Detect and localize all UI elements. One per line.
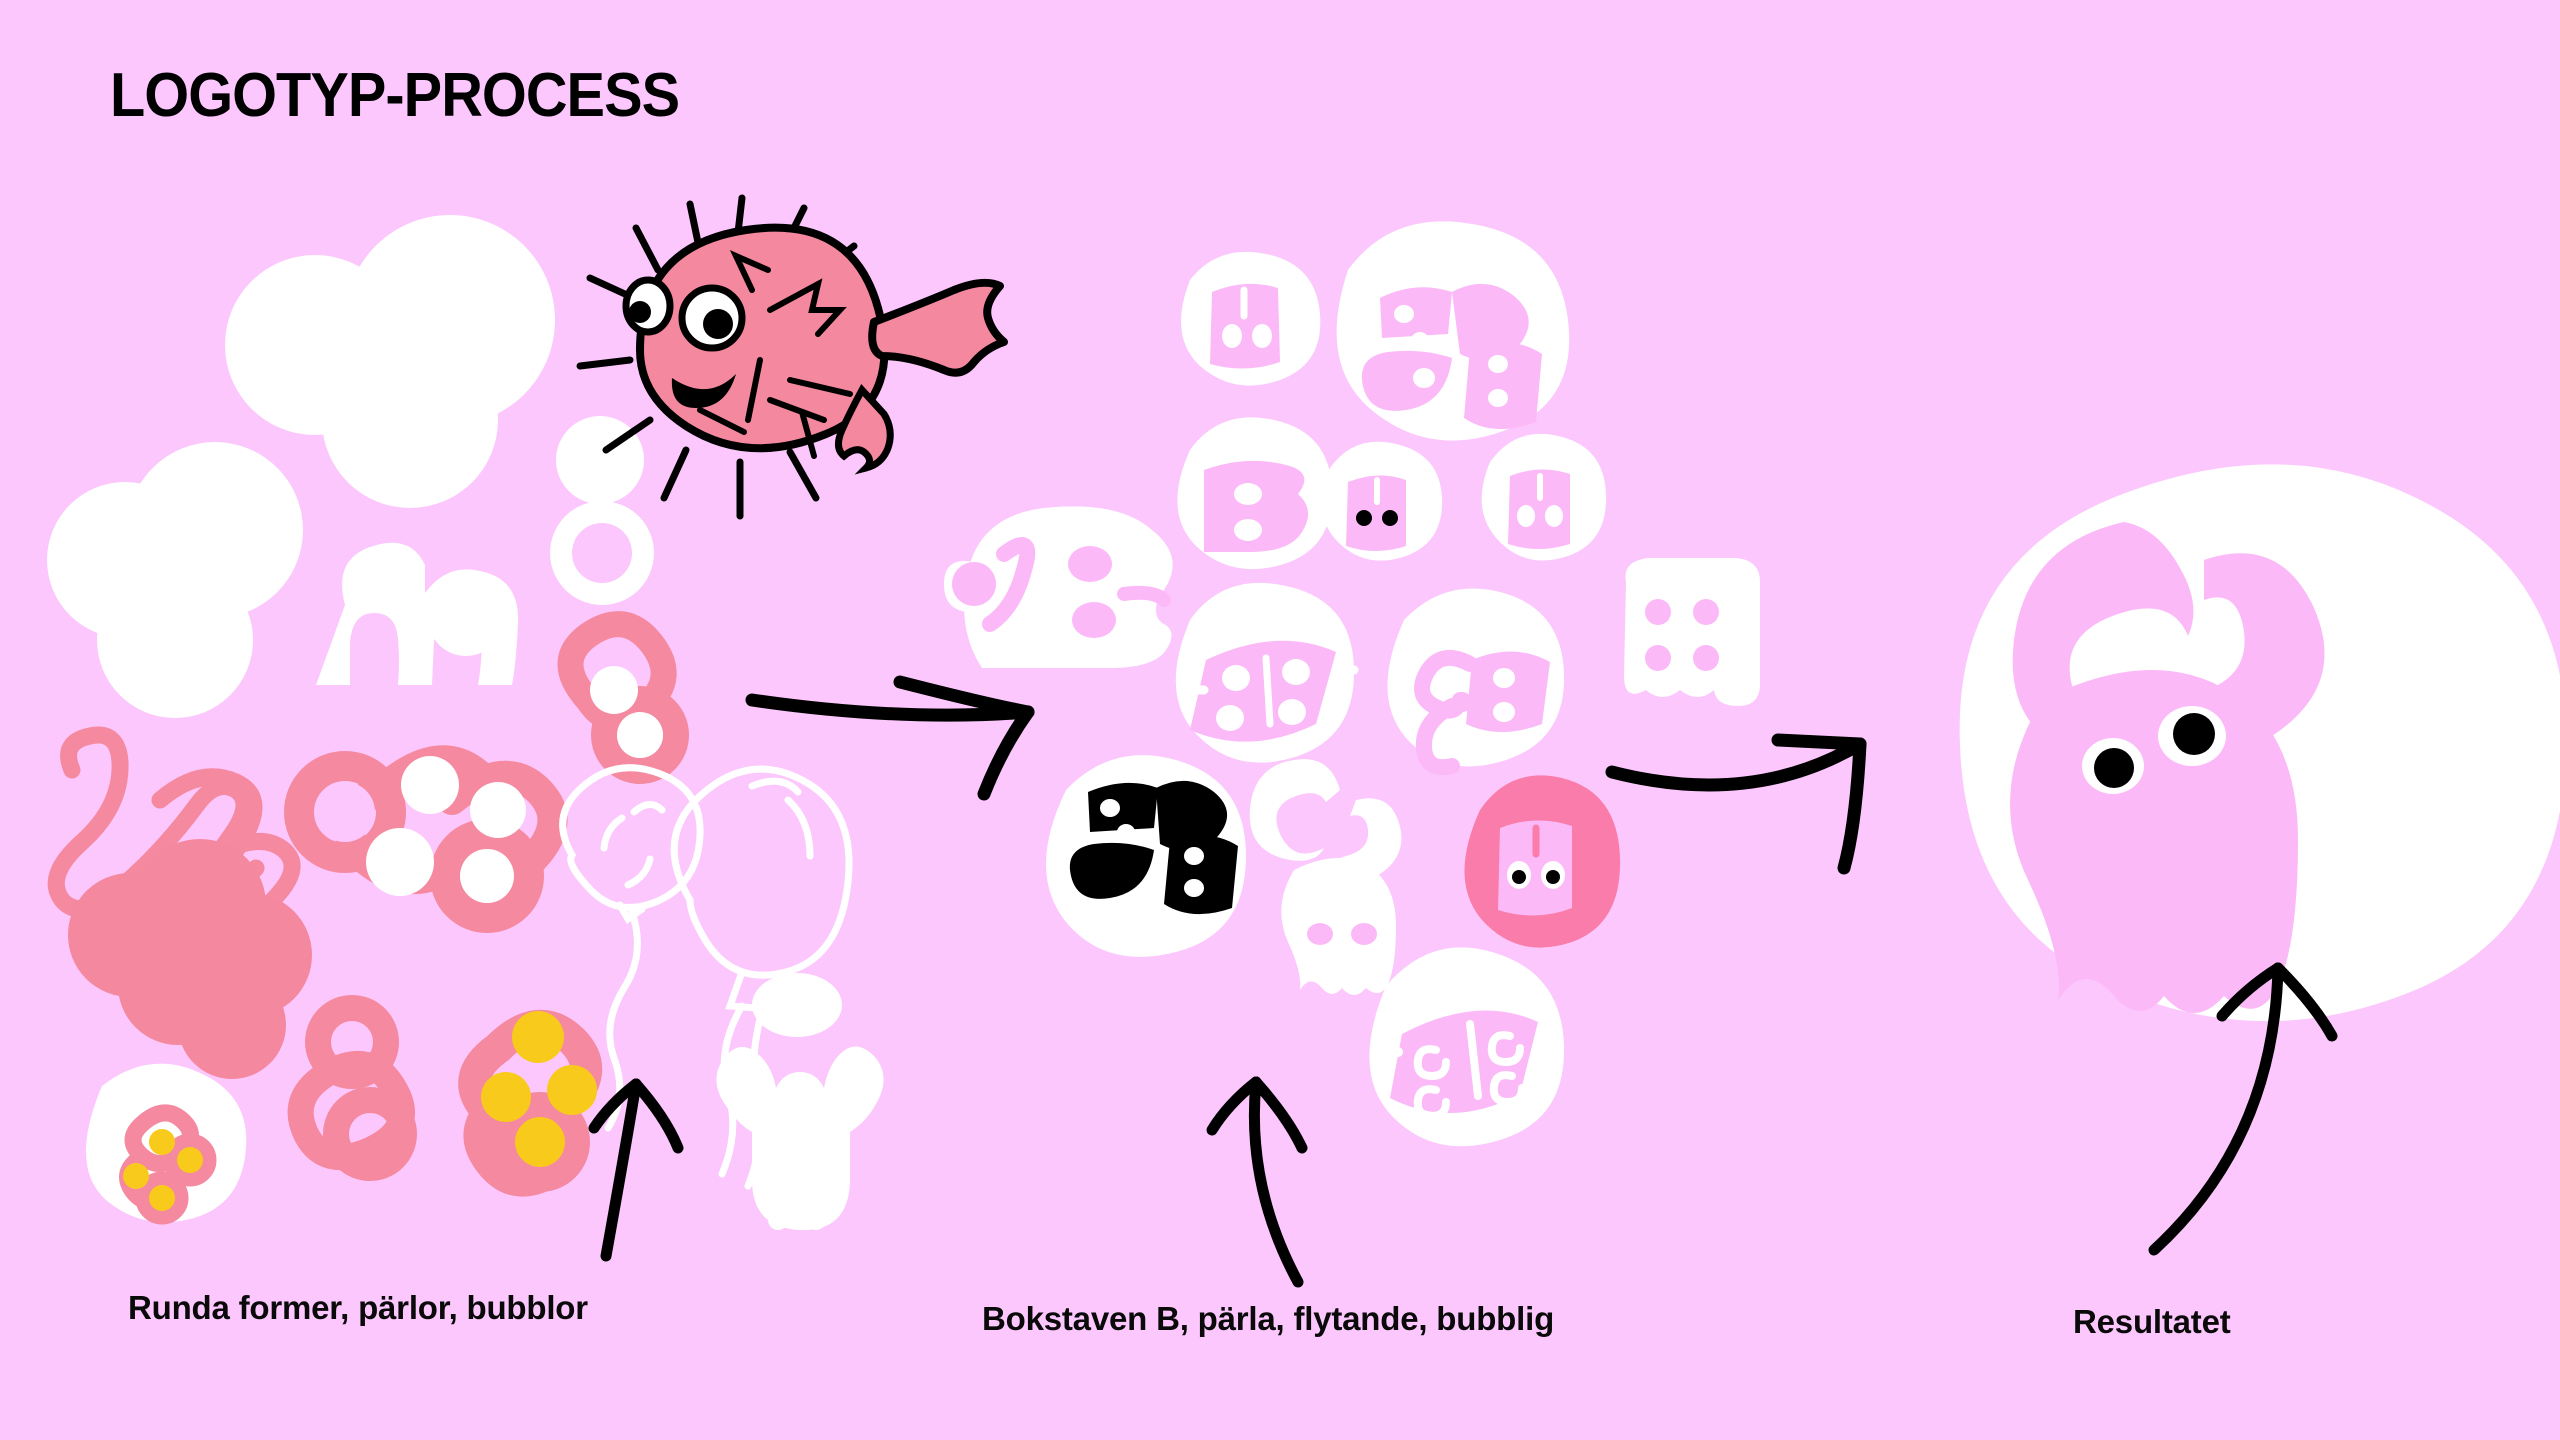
b-glyph-square-dots (1624, 558, 1760, 706)
b-glyph-bubble-script-sb (1387, 589, 1564, 768)
b-glyph-pink-face (1464, 775, 1620, 947)
white-blob-with-pink-beads (86, 1064, 246, 1223)
b-glyph-bubble-face-3 (1482, 434, 1606, 561)
white-bubble-medium (342, 332, 478, 468)
caption-stage-3: Resultatet (2073, 1303, 2231, 1341)
b-glyph-bubble-face-2 (1322, 442, 1442, 561)
b-glyph-bubble-88 (1176, 583, 1354, 763)
final-logo-mark (1960, 464, 2560, 1021)
b-glyph-bubble-letter-b (1177, 417, 1332, 569)
caption-stage-2: Bokstaven B, pärla, flytande, bubblig (982, 1300, 1554, 1338)
pink-loop-beads-yellow (474, 1011, 597, 1181)
b-glyph-bubble-rotated (1369, 947, 1564, 1146)
artwork-canvas (0, 0, 2560, 1440)
b-glyph-bubble-face-1 (1181, 252, 1320, 386)
caption-stage-1: Runda former, pärlor, bubblor (128, 1289, 588, 1327)
b-glyph-bubble-cluster-top (1337, 221, 1570, 440)
logotype-process-poster: LOGOTYP-PROCESS Runda former, pärlor, bu… (0, 0, 2560, 1440)
page-title: LOGOTYP-PROCESS (110, 60, 679, 131)
b-glyph-black-cluster (1046, 755, 1246, 957)
stage-3-group (1960, 464, 2560, 1021)
